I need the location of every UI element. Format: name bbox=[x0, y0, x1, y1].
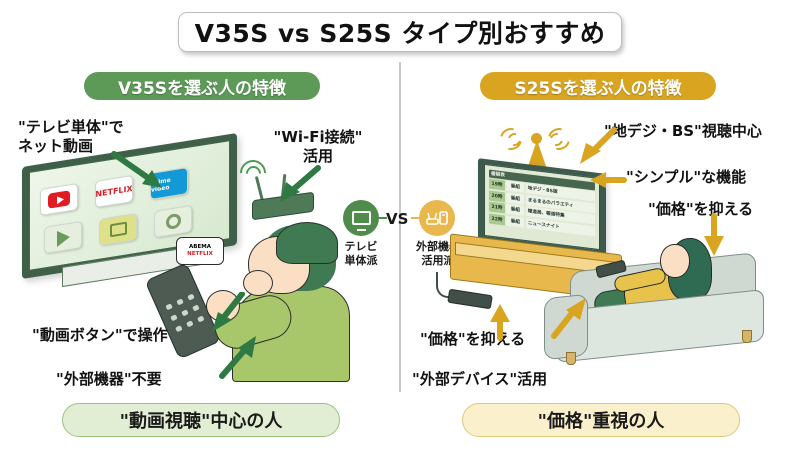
remote-app-buttons-callout: ABEMA NETFLIX bbox=[176, 237, 224, 265]
guide-time: 21時 bbox=[489, 202, 505, 214]
tv-icon bbox=[110, 222, 127, 238]
man-hair-front bbox=[276, 222, 338, 264]
arrow-to-remote-from-top bbox=[206, 292, 252, 336]
play-icon bbox=[57, 228, 70, 246]
arrow-to-hand bbox=[216, 334, 260, 380]
right-column-header: S25Sを選ぶ人の特徴 bbox=[480, 72, 716, 100]
tv-icon bbox=[352, 211, 371, 225]
label-external-device: "外部デバイス"活用 bbox=[412, 370, 547, 389]
guide-channel: 番組 bbox=[506, 215, 524, 227]
arrow-to-sofa-price bbox=[692, 212, 734, 260]
center-tv-only-icon-circle bbox=[343, 200, 379, 236]
arrow-to-tv-simple bbox=[588, 170, 628, 192]
label-simple-functions: "シンプル"な機能 bbox=[626, 168, 746, 187]
remote-button-netflix: NETFLIX bbox=[187, 251, 213, 258]
guide-time: 20時 bbox=[489, 190, 505, 202]
left-column-header: V35Sを選ぶ人の特徴 bbox=[84, 72, 320, 100]
left-conclusion-banner: "動画視聴"中心の人 bbox=[62, 403, 340, 437]
arrow-to-left-tv bbox=[110, 150, 176, 196]
gear-icon bbox=[166, 213, 181, 230]
infographic-canvas: V35S vs S25S タイプ別おすすめ V35Sを選ぶ人の特徴 S25Sを選… bbox=[0, 0, 800, 450]
right-conclusion-banner: "価格"重視の人 bbox=[462, 403, 740, 437]
arrow-to-router bbox=[274, 164, 328, 208]
guide-time: 22時 bbox=[489, 213, 505, 225]
arrow-to-tv-stand-price bbox=[548, 296, 590, 342]
guide-channel: 番組 bbox=[506, 192, 524, 204]
label-wifi-usage: "Wi-Fi接続" 活用 bbox=[258, 128, 378, 166]
guide-channel: 番組 bbox=[506, 181, 524, 193]
sofa-foot-right bbox=[742, 330, 752, 343]
guide-channel: 番組 bbox=[506, 204, 524, 216]
page-title: V35S vs S25S タイプ別おすすめ bbox=[195, 14, 606, 50]
center-external-device-icon-circle bbox=[419, 200, 455, 236]
vs-label: VS bbox=[386, 210, 408, 228]
remote-button-abema: ABEMA bbox=[189, 244, 211, 251]
label-no-external-device: "外部機器"不要 bbox=[56, 370, 162, 389]
guide-time: 19時 bbox=[489, 179, 505, 191]
page-title-box: V35S vs S25S タイプ別おすすめ bbox=[178, 12, 622, 52]
label-terrestrial-bs: "地デジ・BS"視聴中心 bbox=[604, 122, 762, 141]
arrow-to-dongle bbox=[480, 302, 520, 342]
program-guide: 番組表 19時 番組 地デジ・BS版 20時 番組 まるまるのバラエティ 21時… bbox=[487, 167, 597, 247]
youtube-icon bbox=[48, 190, 70, 208]
sofa-foot-left bbox=[566, 352, 576, 365]
label-streaming-standalone: "テレビ単体"で ネット動画 bbox=[18, 118, 124, 156]
arrow-to-antenna bbox=[576, 124, 620, 168]
vs-connector-right bbox=[411, 217, 419, 219]
router-device-icon bbox=[426, 207, 448, 229]
center-left-type-label: テレビ 単体派 bbox=[331, 240, 391, 268]
label-video-button: "動画ボタン"で操作 bbox=[32, 326, 168, 345]
